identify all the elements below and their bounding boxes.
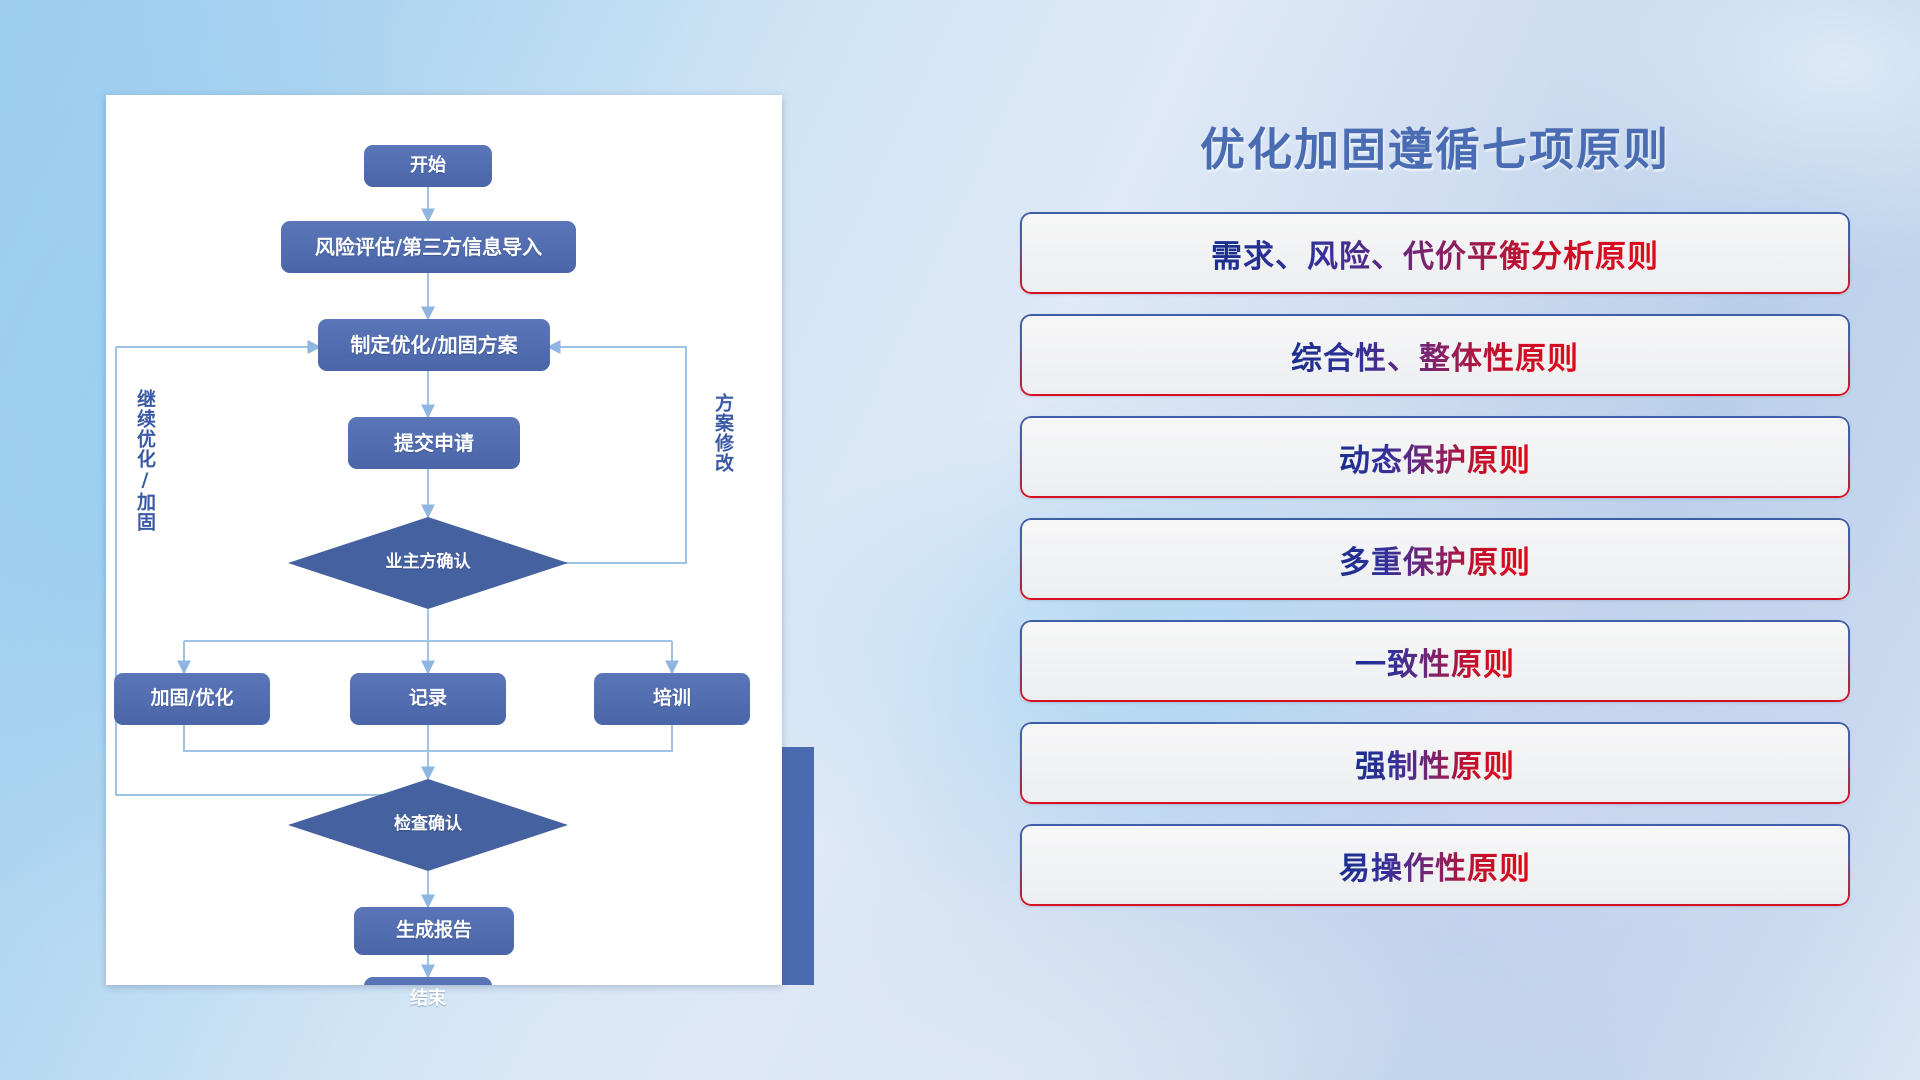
principle-card-1[interactable]: 需求、风险、代价平衡分析原则 <box>1020 212 1850 294</box>
edge-label-plan-revision: 方案修改 <box>712 393 732 523</box>
page-title: 优化加固遵循七项原则 <box>1020 113 1850 178</box>
principle-label: 综合性、整体性原则 <box>1291 333 1579 378</box>
principle-card-3[interactable]: 动态保护原则 <box>1020 416 1850 498</box>
principle-label: 一致性原则 <box>1355 639 1515 684</box>
principle-label: 动态保护原则 <box>1339 435 1531 480</box>
principle-card-4[interactable]: 多重保护原则 <box>1020 518 1850 600</box>
edge-label-continue-optimize: 继续优化/加固 <box>134 389 154 569</box>
principle-label: 易操作性原则 <box>1339 843 1531 888</box>
principles-panel: 优化加固遵循七项原则 需求、风险、代价平衡分析原则 综合性、整体性原则 动态保护… <box>1020 95 1850 1015</box>
principle-label: 需求、风险、代价平衡分析原则 <box>1211 231 1659 276</box>
principle-card-2[interactable]: 综合性、整体性原则 <box>1020 314 1850 396</box>
principle-label: 强制性原则 <box>1355 741 1515 786</box>
principle-card-5[interactable]: 一致性原则 <box>1020 620 1850 702</box>
principle-card-6[interactable]: 强制性原则 <box>1020 722 1850 804</box>
principle-label: 多重保护原则 <box>1339 537 1531 582</box>
principles-list: 需求、风险、代价平衡分析原则 综合性、整体性原则 动态保护原则 多重保护原则 一… <box>1020 212 1850 906</box>
flowchart-diagram <box>106 95 782 985</box>
principle-card-7[interactable]: 易操作性原则 <box>1020 824 1850 906</box>
flowchart-card: 开始 风险评估/第三方信息导入 制定优化/加固方案 提交申请 业主方确认 加固/… <box>106 95 782 985</box>
